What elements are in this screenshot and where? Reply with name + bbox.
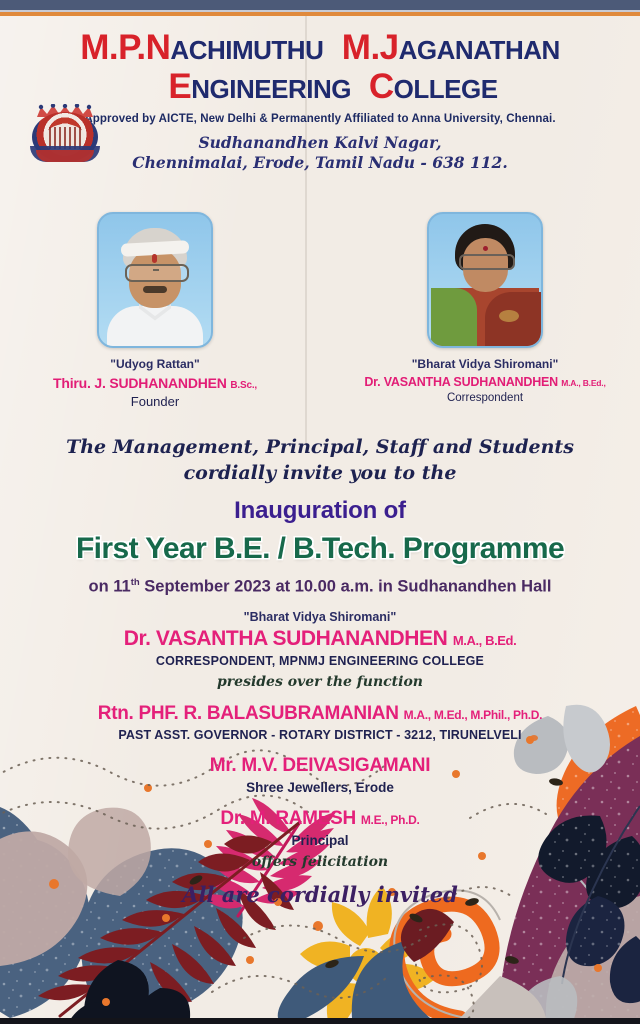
chief-guest-block: Rtn. PHF. R. BALASUBRAMANIAN M.A., M.Ed.… bbox=[0, 703, 640, 742]
principal-name-text: Dr. M. RAMESH bbox=[220, 808, 355, 829]
leadership-photos: "Udyog Rattan" Thiru. J. SUDHANANDHEN B.… bbox=[0, 212, 640, 427]
presiding-designation: CORRESPONDENT, MPNMJ ENGINEERING COLLEGE bbox=[0, 654, 640, 668]
founder-block: "Udyog Rattan" Thiru. J. SUDHANANDHEN B.… bbox=[30, 212, 280, 409]
chief-guest-degrees: M.A., M.Ed., M.Phil., Ph.D. bbox=[404, 708, 543, 722]
presiding-honorific: "Bharat Vidya Shiromani" bbox=[0, 610, 640, 624]
orange-rule bbox=[0, 12, 640, 16]
principal-designation: Principal bbox=[0, 833, 640, 848]
invite-line-1: The Management, Principal, Staff and Stu… bbox=[0, 434, 640, 460]
college-name-part-1: ACHIMUTHU bbox=[170, 35, 323, 65]
founder-name-text: Thiru. J. SUDHANANDHEN bbox=[53, 375, 227, 391]
event-date-rest: September 2023 at 10.00 a.m. in Sudhanan… bbox=[140, 578, 552, 596]
founder-photo bbox=[97, 212, 213, 348]
college-name-part-2: AGANATHAN bbox=[399, 35, 560, 65]
invite-salutation: The Management, Principal, Staff and Stu… bbox=[0, 434, 640, 486]
college-initial: C bbox=[369, 67, 394, 106]
chief-guest-designation: PAST ASST. GOVERNOR - ROTARY DISTRICT - … bbox=[0, 728, 640, 742]
invitation-page: M.P.NACHIMUTHU M.JAGANATHAN ENGINEERING … bbox=[0, 0, 640, 1024]
college-word: OLLEGE bbox=[394, 74, 498, 104]
guest-of-honour-designation: Shree Jewellers, Erode bbox=[0, 780, 640, 795]
presiding-block: "Bharat Vidya Shiromani" Dr. VASANTHA SU… bbox=[0, 610, 640, 690]
college-name-line1: M.P.NACHIMUTHU M.JAGANATHAN bbox=[0, 30, 640, 67]
invite-line-2: cordially invite you to the bbox=[0, 460, 640, 486]
college-name-line2: ENGINEERING COLLEGE bbox=[26, 69, 640, 106]
emblem-band-red bbox=[36, 150, 94, 162]
correspondent-photo bbox=[427, 212, 543, 348]
correspondent-honorific: "Bharat Vidya Shiromani" bbox=[360, 357, 610, 371]
founder-honorific: "Udyog Rattan" bbox=[30, 357, 280, 371]
presiding-name-text: Dr. VASANTHA SUDHANANDHEN bbox=[124, 627, 448, 650]
guest-of-honour-block: Mr. M.V. DEIVASIGAMANI Shree Jewellers, … bbox=[0, 755, 640, 795]
engineering-initial: E bbox=[168, 67, 191, 106]
college-emblem-icon bbox=[28, 104, 102, 166]
correspondent-block: "Bharat Vidya Shiromani" Dr. VASANTHA SU… bbox=[360, 212, 610, 404]
college-name-initials-1: M.P.N bbox=[80, 28, 170, 67]
top-chrome-band bbox=[0, 0, 640, 10]
founder-role: Founder bbox=[30, 394, 280, 409]
presiding-action: presides over the function bbox=[0, 674, 640, 690]
event-title: First Year B.E. / B.Tech. Programme bbox=[0, 532, 640, 566]
principal-degrees: M.E., Ph.D. bbox=[361, 813, 420, 827]
invitation-paper: M.P.NACHIMUTHU M.JAGANATHAN ENGINEERING … bbox=[0, 16, 640, 1018]
invitation-body: The Management, Principal, Staff and Stu… bbox=[0, 434, 640, 907]
engineering-word: NGINEERING bbox=[191, 74, 351, 104]
closing-line: All are cordially invited bbox=[0, 882, 640, 907]
event-date-ordinal: th bbox=[131, 577, 140, 588]
principal-name: Dr. M. RAMESH M.E., Ph.D. bbox=[0, 808, 640, 830]
college-name-initials-2: M.J bbox=[342, 28, 399, 67]
principal-action: offers felicitation bbox=[0, 854, 640, 870]
chief-guest-name: Rtn. PHF. R. BALASUBRAMANIAN M.A., M.Ed.… bbox=[0, 703, 640, 725]
event-date-prefix: on 11 bbox=[89, 578, 131, 596]
correspondent-name-text: Dr. VASANTHA SUDHANANDHEN bbox=[364, 375, 558, 389]
guest-of-honour-name: Mr. M.V. DEIVASIGAMANI bbox=[0, 755, 640, 777]
presiding-degrees: M.A., B.Ed. bbox=[453, 633, 517, 648]
correspondent-role: Correspondent bbox=[360, 392, 610, 404]
presiding-name: Dr. VASANTHA SUDHANANDHEN M.A., B.Ed. bbox=[0, 627, 640, 651]
correspondent-degrees: M.A., B.Ed., bbox=[561, 378, 605, 388]
bottom-chrome-band bbox=[0, 1018, 640, 1024]
correspondent-name: Dr. VASANTHA SUDHANANDHEN M.A., B.Ed., bbox=[360, 375, 610, 389]
chief-guest-name-text: Rtn. PHF. R. BALASUBRAMANIAN bbox=[98, 703, 399, 724]
event-kicker: Inauguration of bbox=[0, 497, 640, 525]
founder-degrees: B.Sc., bbox=[230, 380, 257, 391]
event-datetime-venue: on 11th September 2023 at 10.00 a.m. in … bbox=[0, 577, 640, 597]
founder-name: Thiru. J. SUDHANANDHEN B.Sc., bbox=[30, 375, 280, 391]
principal-block: Dr. M. RAMESH M.E., Ph.D. Principal offe… bbox=[0, 808, 640, 870]
